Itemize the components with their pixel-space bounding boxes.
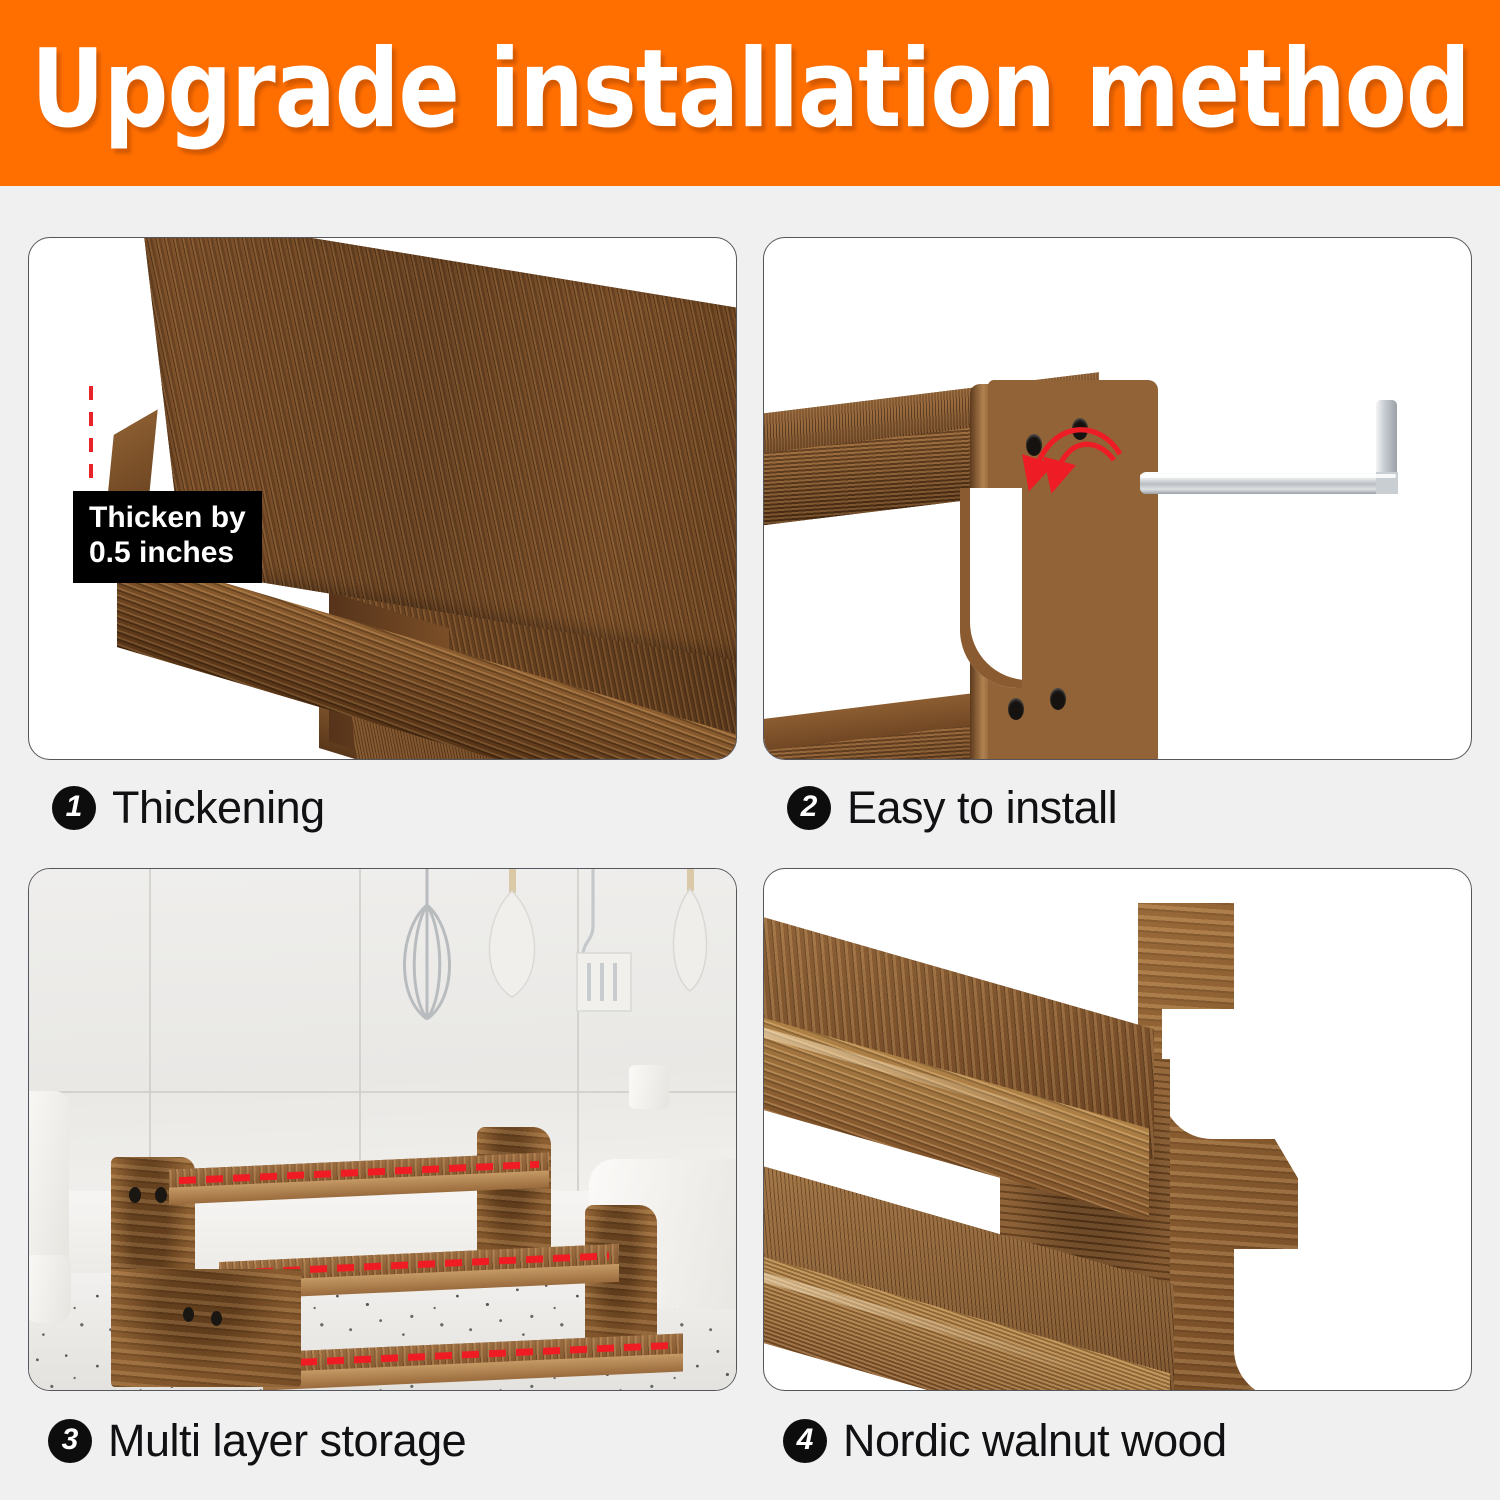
faucet-knob	[629, 1065, 669, 1109]
panel-caption-text-4: Nordic walnut wood	[843, 1415, 1227, 1467]
panel-caption-1: 1 Thickening	[28, 772, 737, 844]
screw-hole	[1050, 688, 1066, 710]
assembly-rotation-arrow-icon	[1002, 414, 1132, 524]
slotted-turner-icon	[577, 869, 631, 1011]
feature-panel-grid: Thicken by 0.5 inches 1 Thickening	[28, 237, 1472, 1393]
thicken-callout-label: Thicken by 0.5 inches	[73, 491, 262, 583]
ladle-icon	[673, 869, 706, 991]
feature-cell-3: 3 Multi layer storage	[28, 868, 737, 1391]
step-number-badge-2: 2	[787, 786, 831, 830]
screw-hole	[211, 1311, 222, 1326]
side-profile-notch-lower	[1234, 1249, 1354, 1391]
left-appliance	[28, 1091, 69, 1271]
screw-hole	[1008, 698, 1024, 720]
panel-caption-3: 3 Multi layer storage	[28, 1405, 737, 1477]
feature-cell-2: 2 Easy to install	[763, 237, 1472, 760]
panel-caption-2: 2 Easy to install	[763, 772, 1472, 844]
screw-hole	[129, 1187, 141, 1203]
panel-image-nordic-walnut-wood[interactable]	[763, 868, 1472, 1391]
panel-image-thickening[interactable]: Thicken by 0.5 inches	[28, 237, 737, 760]
panel-caption-4: 4 Nordic walnut wood	[763, 1405, 1472, 1477]
page-title: Upgrade installation method	[31, 36, 1470, 150]
step-number-badge-1: 1	[52, 786, 96, 830]
screw-hole	[183, 1307, 194, 1322]
hanging-utensils-group	[381, 869, 721, 1079]
page-header-banner: Upgrade installation method	[0, 0, 1500, 186]
screw-hole	[155, 1187, 167, 1203]
panel-caption-text-2: Easy to install	[847, 782, 1117, 834]
panel-image-easy-to-install[interactable]	[763, 237, 1472, 760]
panel-image-multi-layer-storage[interactable]	[28, 868, 737, 1391]
hex-key-tool-icon	[1136, 388, 1436, 528]
tile-grout-line	[149, 869, 151, 1199]
side-profile-notch-upper	[1162, 1009, 1282, 1139]
step-number-badge-4: 4	[783, 1419, 827, 1463]
whisk-icon	[404, 869, 449, 1019]
step-number-badge-3: 3	[48, 1419, 92, 1463]
spatula-icon	[489, 869, 534, 997]
feature-cell-1: Thicken by 0.5 inches 1 Thickening	[28, 237, 737, 760]
tile-grout-line	[359, 869, 361, 1199]
left-canister	[28, 1255, 71, 1323]
panel-caption-text-3: Multi layer storage	[108, 1415, 466, 1467]
rack-front-left-panel	[111, 1269, 301, 1387]
feature-cell-4: 4 Nordic walnut wood	[763, 868, 1472, 1391]
thickness-measure-dashed-line	[89, 386, 93, 482]
panel-caption-text-1: Thickening	[112, 782, 325, 834]
